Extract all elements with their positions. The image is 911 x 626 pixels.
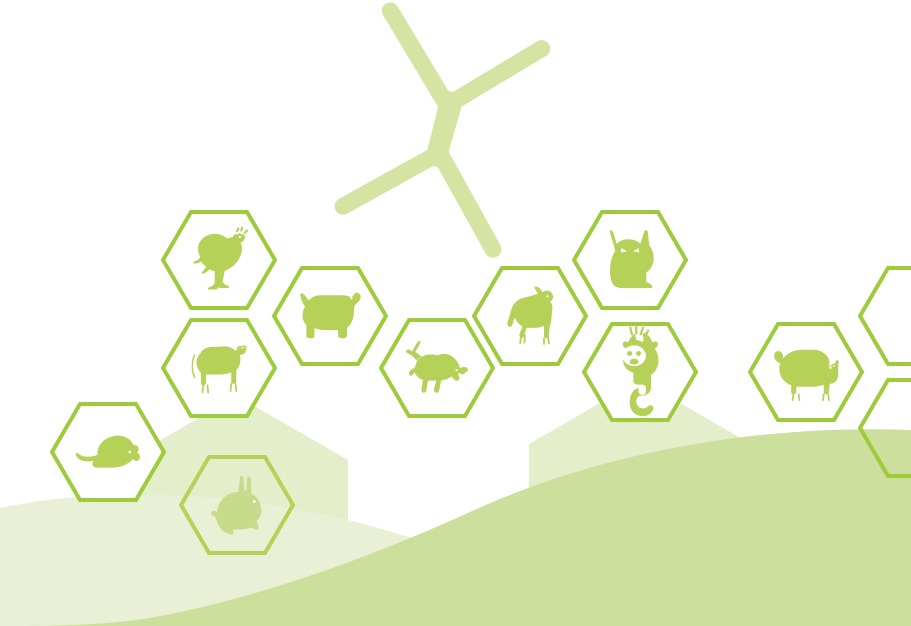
banner-canvas: [0, 0, 911, 626]
animal-antibody-banner: Animal species antibody banner Hexagon b…: [0, 0, 911, 626]
